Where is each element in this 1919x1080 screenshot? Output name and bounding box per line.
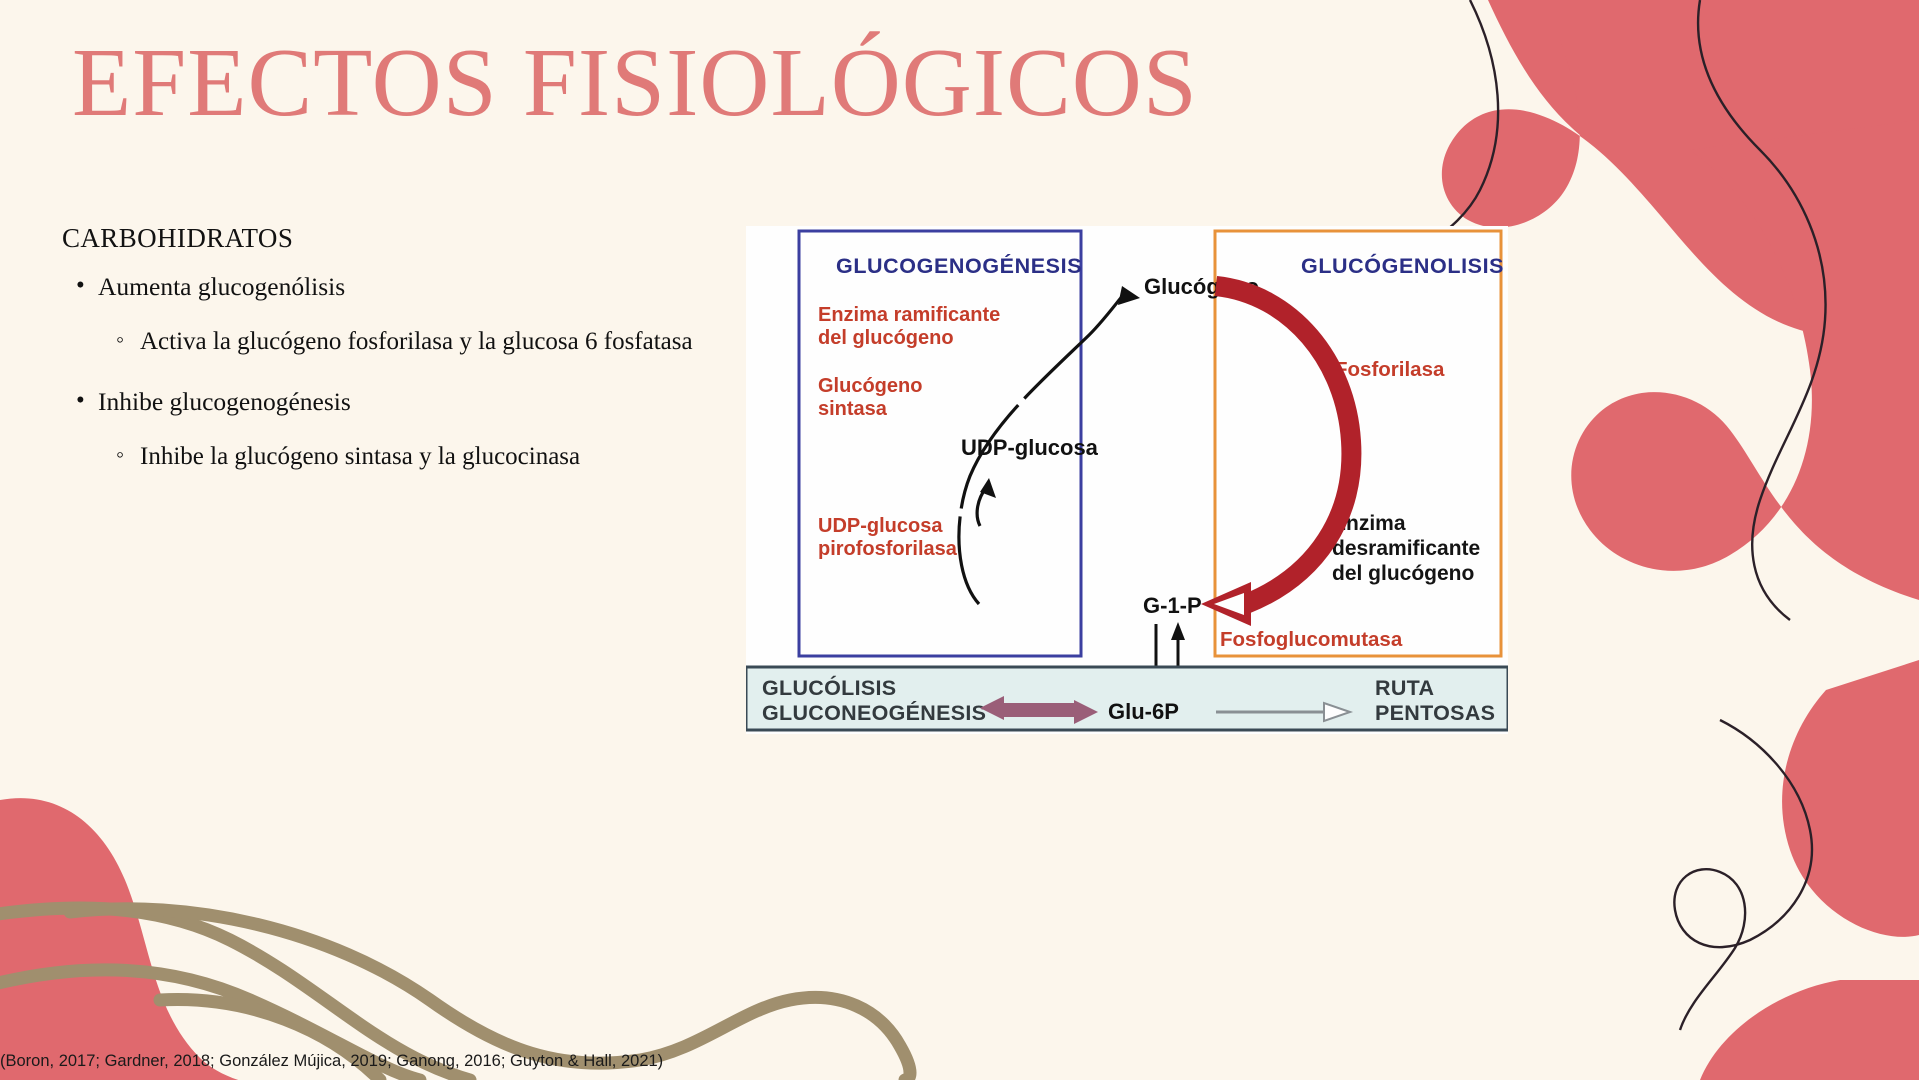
bullet-label: Inhibe glucogenogénesis [98, 387, 351, 416]
coral-blob-bottom-left [0, 865, 240, 1080]
left-panel-title: GLUCOGENOGÉNESIS [836, 253, 1082, 278]
enzyme-label-pirofosforilasa-2: pirofosforilasa [818, 538, 958, 560]
enzyme-label-ramificante-2: del glucógeno [818, 327, 954, 349]
sub-bullet-item: Inhibe la glucógeno sintasa y la glucoci… [140, 433, 702, 482]
enzyme-label-sintasa-2: sintasa [818, 398, 888, 420]
bullet-list-level2: Activa la glucógeno fosforilasa y la glu… [98, 318, 702, 367]
slide: EFECTOS FISIOLÓGICOS CARBOHIDRATOS Aumen… [0, 0, 1919, 1080]
thin-line-top-right-2 [1698, 0, 1825, 620]
enzyme-label-desramificante-2: desramificante [1332, 537, 1480, 560]
thin-line-bottom-right [1674, 720, 1812, 1030]
enzyme-label-desramificante-3: del glucógeno [1332, 562, 1474, 585]
bottom-bar-glucolisis: GLUCÓLISIS [762, 675, 896, 700]
enzyme-label-pirofosforilasa-1: UDP-glucosa [818, 515, 943, 537]
enzyme-label-ramificante-1: Enzima ramificante [818, 304, 1000, 326]
citation-text: (Boron, 2017; Gardner, 2018; González Mú… [0, 1052, 663, 1071]
right-panel-title: GLUCÓGENOLISIS [1301, 253, 1504, 278]
coral-blob-right-bottom [1782, 660, 1919, 937]
bullet-list-level1: Aumenta glucogenólisis Activa la glucóge… [62, 270, 702, 482]
coral-blob-bottom-right [1700, 980, 1919, 1080]
enzyme-label-fosforilasa: Fosforilasa [1335, 358, 1445, 381]
slide-title: EFECTOS FISIOLÓGICOS [72, 30, 1198, 137]
bottom-bar-gluconeogenesis: GLUCONEOGÉNESIS [762, 700, 986, 725]
coral-blob-top-right-lower [1571, 120, 1919, 600]
content-block: CARBOHIDRATOS Aumenta glucogenólisis Act… [62, 222, 702, 500]
metabolite-g1p: G-1-P [1143, 593, 1202, 618]
bullet-item: Aumenta glucogenólisis Activa la glucóge… [98, 270, 702, 367]
sub-bullet-item: Activa la glucógeno fosforilasa y la glu… [140, 318, 702, 367]
metabolite-glu6p: Glu-6P [1108, 699, 1179, 724]
enzyme-label-sintasa-1: Glucógeno [818, 375, 922, 397]
coral-blob-top-right-main [1442, 0, 1919, 336]
bullet-label: Aumenta glucogenólisis [98, 272, 345, 301]
bottom-bar-pentosas: PENTOSAS [1375, 701, 1495, 725]
coral-blob-top-right [1488, 0, 1919, 179]
metabolite-udp-glucosa: UDP-glucosa [961, 435, 1099, 460]
coral-blob-bottom-left-main [0, 798, 360, 1080]
bullet-list-level2: Inhibe la glucógeno sintasa y la glucoci… [98, 433, 702, 482]
section-heading: CARBOHIDRATOS [62, 222, 702, 256]
enzyme-label-fosfoglucomutasa: Fosfoglucomutasa [1220, 628, 1403, 651]
bottom-bar-ruta: RUTA [1375, 676, 1434, 700]
metabolism-diagram: GLUCOGENOGÉNESIS GLUCÓGENOLISIS Enzima r… [746, 226, 1508, 734]
bullet-item: Inhibe glucogenogénesis Inhibe la glucóg… [98, 385, 702, 482]
